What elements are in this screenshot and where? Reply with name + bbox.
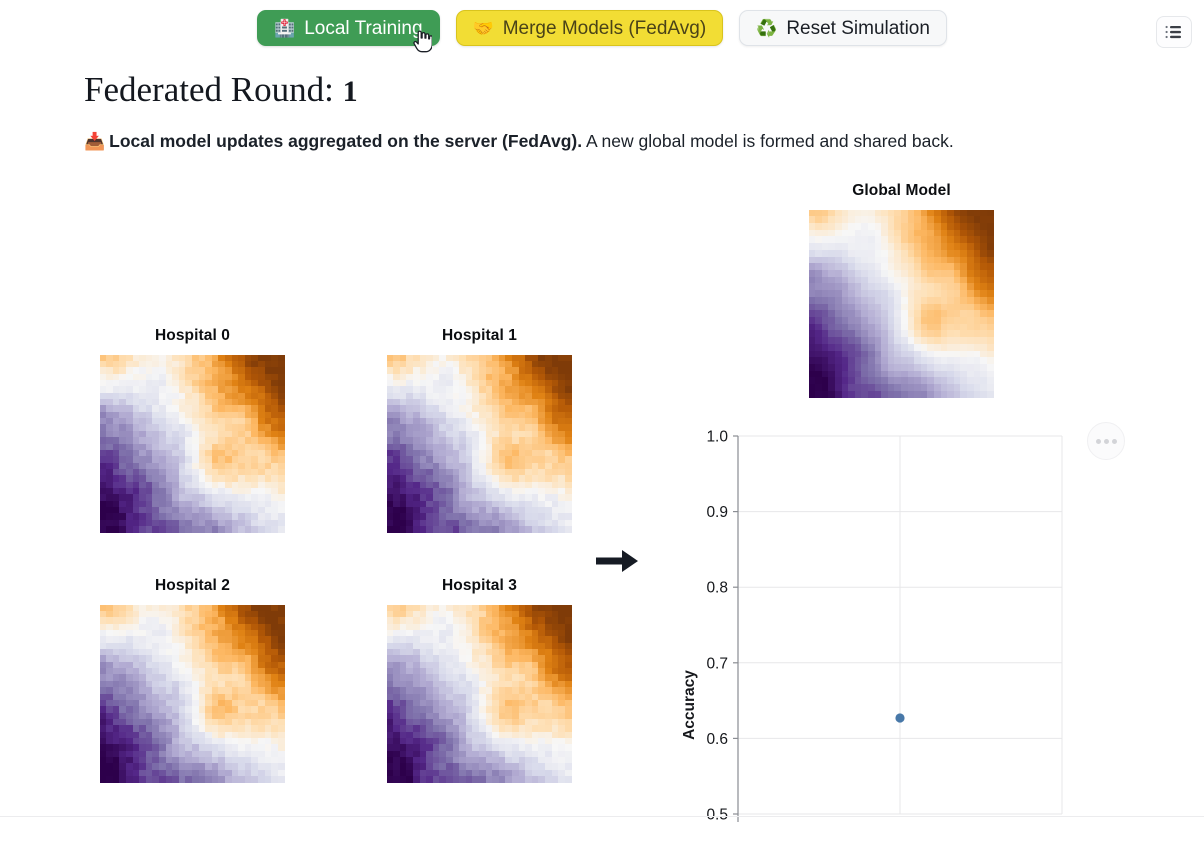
bottom-divider: [0, 816, 1204, 817]
hospital-3-label: Hospital 3: [387, 576, 572, 596]
chart-gridlines: [738, 436, 1062, 814]
global-model-label: Global Model: [809, 181, 994, 201]
status-description: 📥Local model updates aggregated on the s…: [84, 127, 954, 156]
chart-y-tick-label: 1.0: [706, 429, 728, 446]
chart-y-tick-labels: 0.50.60.70.80.91.0: [706, 429, 728, 824]
more-options-button[interactable]: [1087, 422, 1125, 460]
more-options-dot: [1104, 439, 1109, 444]
top-toolbar: 🏥 Local Training 🤝 Merge Models (FedAvg)…: [0, 0, 1204, 56]
global-model-panel: Global Model: [809, 181, 994, 398]
hospital-1-heatmap: [387, 355, 572, 533]
client-panel-hospital-2: Hospital 2: [100, 576, 285, 783]
global-model-heatmap: [809, 210, 994, 398]
merge-models-label: Merge Models (FedAvg): [503, 19, 706, 38]
hospital-2-label: Hospital 2: [100, 576, 285, 596]
chart-y-tick-label: 0.7: [706, 655, 728, 672]
list-menu-button[interactable]: [1156, 16, 1192, 48]
federated-round-number: 1: [343, 75, 358, 108]
accuracy-chart[interactable]: 0.50.60.70.80.91.0 Accuracy: [676, 420, 1076, 830]
chart-y-tick-label: 0.6: [706, 731, 728, 748]
client-panel-hospital-0: Hospital 0: [100, 326, 285, 533]
more-options-dot: [1112, 439, 1117, 444]
hospital-1-label: Hospital 1: [387, 326, 572, 346]
more-options-dot: [1096, 439, 1101, 444]
hospital-3-heatmap: [387, 605, 572, 783]
handshake-icon: 🤝: [473, 20, 494, 37]
status-bold-text: Local model updates aggregated on the se…: [109, 131, 582, 151]
list-menu-icon: [1165, 25, 1183, 39]
recycle-icon: ♻️: [756, 20, 777, 37]
page-title: Federated Round: 1: [84, 68, 358, 114]
client-panel-hospital-1: Hospital 1: [387, 326, 572, 533]
status-rest-text: A new global model is formed and shared …: [582, 131, 954, 151]
chart-y-axis-label: Accuracy: [681, 670, 698, 740]
accuracy-chart-svg: 0.50.60.70.80.91.0 Accuracy: [676, 420, 1076, 830]
inbox-tray-icon: 📥: [84, 132, 105, 151]
chart-data-point[interactable]: [895, 713, 904, 722]
local-training-button[interactable]: 🏥 Local Training: [257, 10, 439, 46]
chart-y-tick-label: 0.5: [706, 807, 728, 824]
local-training-label: Local Training: [304, 19, 422, 38]
chart-y-tick-label: 0.9: [706, 504, 728, 521]
hospital-2-heatmap: [100, 605, 285, 783]
hospital-icon: 🏥: [274, 20, 295, 37]
merge-models-button[interactable]: 🤝 Merge Models (FedAvg): [456, 10, 724, 46]
reset-simulation-button[interactable]: ♻️ Reset Simulation: [739, 10, 947, 46]
reset-simulation-label: Reset Simulation: [786, 19, 930, 38]
page-title-prefix: Federated Round:: [84, 70, 334, 109]
chart-data-points[interactable]: [895, 713, 904, 722]
chart-y-tick-label: 0.8: [706, 580, 728, 597]
chart-y-axis: [733, 436, 738, 822]
right-arrow-icon: [596, 545, 640, 577]
client-panel-hospital-3: Hospital 3: [387, 576, 572, 783]
hospital-0-label: Hospital 0: [100, 326, 285, 346]
hospital-0-heatmap: [100, 355, 285, 533]
